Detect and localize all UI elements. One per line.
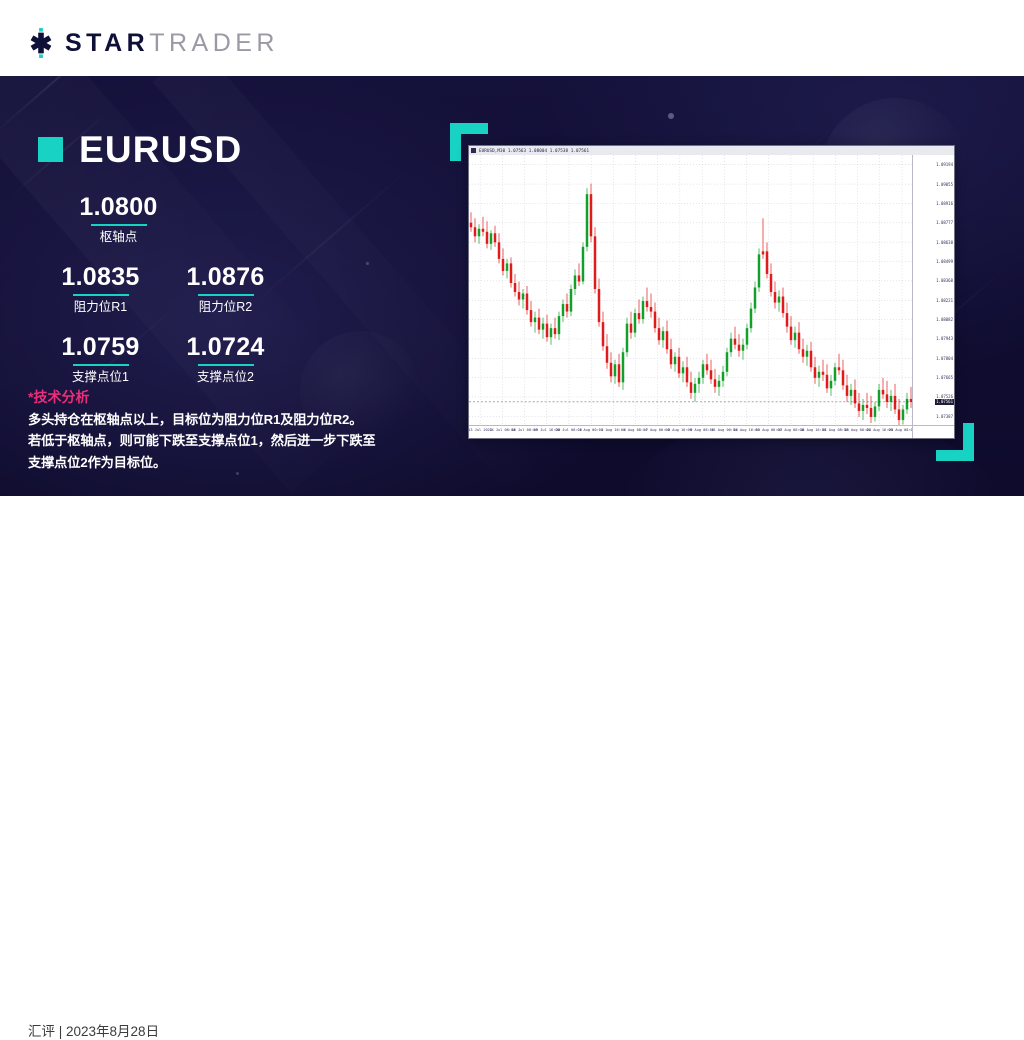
- level-s1: 1.0759 支撑点位1: [38, 333, 163, 385]
- price-tick-label: 1.09194: [936, 162, 953, 167]
- time-tick-label: 2 Aug 16:00: [601, 428, 625, 433]
- axis-corner: [912, 425, 954, 438]
- resistance-row: 1.0835 阻力位R1 1.0876 阻力位R2: [38, 263, 308, 315]
- brand-wordmark: STARTRADER: [65, 31, 279, 56]
- time-tick-label: 26 Jul 08:00: [556, 428, 582, 433]
- price-tick-label: 1.08916: [936, 201, 953, 206]
- chart-plot-area: [469, 155, 913, 426]
- pivot-levels: 1.0800 枢轴点 1.0835 阻力位R1 1.0876 阻力位R2 1.0…: [38, 193, 308, 385]
- brand-logo[interactable]: STARTRADER: [26, 28, 279, 58]
- level-value: 1.0835: [38, 263, 163, 293]
- technical-analysis: *技术分析 多头持仓在枢轴点以上，目标位为阻力位R1及阻力位R2。 若低于枢轴点…: [28, 389, 400, 473]
- candlestick-svg: [469, 155, 913, 426]
- level-underline: [91, 224, 147, 227]
- price-tick-label: 1.07665: [936, 375, 953, 380]
- analysis-body: 多头持仓在枢轴点以上，目标位为阻力位R1及阻力位R2。 若低于枢轴点，则可能下跌…: [28, 409, 400, 473]
- level-r2: 1.0876 阻力位R2: [163, 263, 288, 315]
- price-tick-label: 1.08221: [936, 298, 953, 303]
- level-r1: 1.0835 阻力位R1: [38, 263, 163, 315]
- price-chart-window[interactable]: EURUSD,M30 1.07563 1.08004 1.07538 1.075…: [468, 145, 955, 439]
- price-tick-label: 1.07804: [936, 356, 953, 361]
- asterisk-logo-icon: [26, 28, 56, 58]
- analysis-line: 多头持仓在枢轴点以上，目标位为阻力位R1及阻力位R2。: [28, 409, 400, 430]
- level-underline: [198, 364, 254, 367]
- poster-root: STARTRADER EURUSD 1.0800: [0, 0, 1024, 576]
- level-value: 1.0724: [163, 333, 288, 363]
- time-tick-label: 8 Aug 16:00: [668, 428, 692, 433]
- chart-time-axis: 13 Jul 202314 Jul 08:0018 Jul 00:0019 Ju…: [469, 425, 913, 438]
- footer-bar: 汇评 | 2023年8月28日: [0, 496, 1024, 576]
- price-tick-label: 1.08638: [936, 240, 953, 245]
- decor-dot: [668, 113, 674, 119]
- square-marker-icon: [38, 137, 63, 162]
- time-tick-label: 25 Aug 08:00: [889, 428, 915, 433]
- page-title: EURUSD: [79, 131, 242, 168]
- level-label: 阻力位R2: [163, 300, 288, 315]
- analysis-heading: *技术分析: [28, 389, 400, 406]
- time-tick-label: 1 Aug 00:00: [579, 428, 603, 433]
- level-value: 1.0800: [56, 193, 181, 223]
- time-tick-label: 4 Aug 08:00: [624, 428, 648, 433]
- brand-name-light: TRADER: [149, 29, 279, 57]
- price-tick-label: 1.09055: [936, 182, 953, 187]
- price-tick-label: 1.08360: [936, 278, 953, 283]
- price-tick-label: 1.08777: [936, 220, 953, 225]
- header-bar: STARTRADER: [0, 0, 1024, 76]
- pivot-row: 1.0800 枢轴点: [38, 193, 308, 245]
- level-label: 阻力位R1: [38, 300, 163, 315]
- level-underline: [198, 294, 254, 297]
- level-label: 枢轴点: [56, 230, 181, 245]
- level-value: 1.0759: [38, 333, 163, 363]
- instrument-title: EURUSD: [38, 131, 242, 168]
- price-tick-label: 1.08499: [936, 259, 953, 264]
- price-tick-label: 1.08082: [936, 317, 953, 322]
- chart-title-text: EURUSD,M30 1.07563 1.08004 1.07538 1.075…: [479, 147, 589, 154]
- window-icon: [471, 148, 476, 153]
- price-tick-label: 1.07387: [936, 414, 953, 419]
- brand-name-bold: STAR: [65, 29, 149, 57]
- decor-dot: [366, 262, 369, 265]
- analysis-line: 支撑点位2作为目标位。: [28, 452, 400, 473]
- level-pivot: 1.0800 枢轴点: [56, 193, 181, 245]
- level-label: 支撑点位2: [163, 370, 288, 385]
- level-value: 1.0876: [163, 263, 288, 293]
- price-tick-label: 1.07943: [936, 336, 953, 341]
- level-underline: [73, 364, 129, 367]
- level-label: 支撑点位1: [38, 370, 163, 385]
- analysis-line: 若低于枢轴点，则可能下跌至支撑点位1，然后进一步下跌至: [28, 430, 400, 451]
- last-price-marker: 1.07561: [935, 399, 954, 405]
- level-s2: 1.0724 支撑点位2: [163, 333, 288, 385]
- footer-caption: 汇评 | 2023年8月28日: [28, 1024, 159, 1040]
- support-row: 1.0759 支撑点位1 1.0724 支撑点位2: [38, 333, 308, 385]
- chart-price-axis: 1.091941.090551.089161.087771.086381.084…: [912, 155, 954, 426]
- level-underline: [73, 294, 129, 297]
- time-tick-label: 7 Aug 00:00: [646, 428, 670, 433]
